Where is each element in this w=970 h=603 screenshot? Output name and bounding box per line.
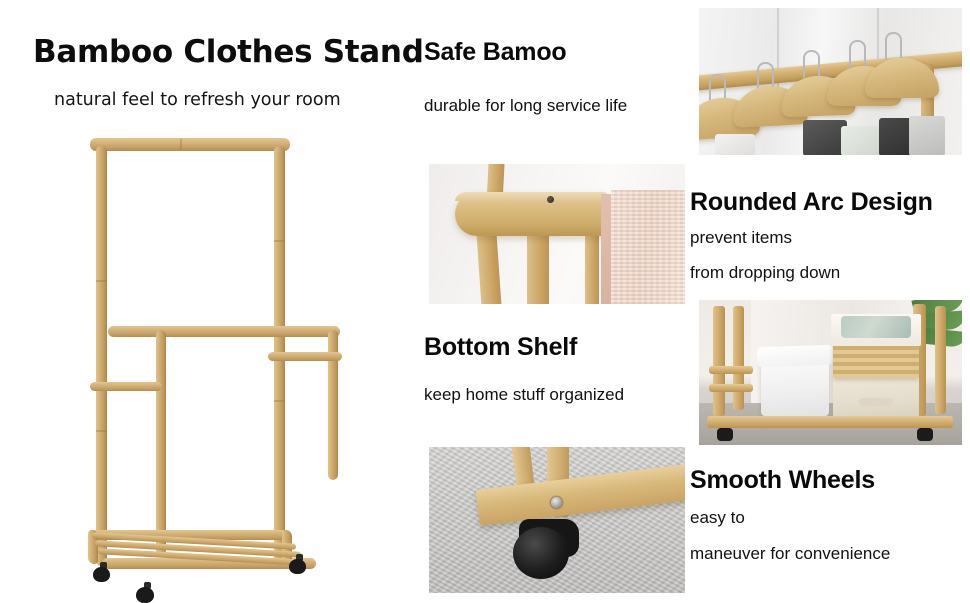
light-garment (715, 134, 755, 155)
rack-inner-left-post (156, 330, 166, 555)
folded-cloth-in-basket (841, 316, 911, 338)
rack-node-mark (274, 240, 285, 242)
bamboo-left-inner-post (733, 306, 744, 410)
feature-subtitle-smooth-wheels-line-2: maneuver for convenience (690, 544, 890, 564)
feature-subtitle-rounded-arc-line-1: prevent items (690, 228, 792, 248)
bamboo-clothes-rack-illustration (60, 130, 360, 590)
bamboo-center-post (527, 230, 549, 304)
caster-wheel-left (717, 428, 733, 441)
feature-title-bottom-shelf: Bottom Shelf (424, 333, 577, 362)
rack-node-mark (96, 430, 107, 432)
light-garment (841, 126, 881, 155)
caster-wheel-right (917, 428, 933, 441)
arc-arm-highlight (455, 192, 607, 201)
bamboo-right-inner-post (935, 306, 946, 414)
rack-left-brace (90, 382, 162, 391)
bamboo-arc-arm-with-towel-photo (429, 164, 685, 304)
rack-node-mark (96, 280, 107, 282)
hangers-on-bamboo-rail-photo (699, 8, 962, 155)
wicker-basket (833, 344, 919, 378)
bin-handle (859, 398, 893, 406)
hanger-hook (803, 50, 820, 78)
bamboo-left-brace (709, 366, 753, 374)
caster-wheel-on-carpet-photo (429, 447, 685, 593)
gray-garment (909, 116, 945, 155)
caster-wheel-front-left (136, 587, 154, 603)
rack-node-mark (274, 400, 285, 402)
feature-title-rounded-arc-design: Rounded Arc Design (690, 188, 933, 217)
bamboo-right-post (585, 226, 599, 304)
feature-title-safe-bamboo: Safe Bamoo (424, 38, 566, 67)
bamboo-left-brace (709, 384, 753, 392)
feature-subtitle-rounded-arc-line-2: from dropping down (690, 263, 840, 283)
feature-subtitle-safe-bamboo: durable for long service life (424, 96, 627, 116)
white-box-lid (757, 345, 834, 368)
arm-screw-hole (547, 196, 554, 203)
rack-left-post (96, 146, 107, 566)
bamboo-shelf-board (707, 416, 953, 428)
caster-wheel-rear-left (93, 567, 110, 582)
metal-bolt (551, 497, 562, 508)
caster-wheel-rear-right (289, 559, 306, 574)
page-title: Bamboo Clothes Stand (33, 34, 424, 70)
feature-subtitle-smooth-wheels-line-1: easy to (690, 508, 745, 528)
feature-subtitle-bottom-shelf: keep home stuff organized (424, 385, 624, 405)
pink-towel (611, 190, 685, 304)
bamboo-left-post (713, 306, 725, 416)
page-subtitle: natural feel to refresh your room (54, 90, 341, 110)
bottom-shelf-with-storage-boxes-photo (699, 300, 962, 445)
hanger-hook (849, 40, 866, 68)
hanger-hook (885, 32, 902, 60)
rack-middle-rail (108, 326, 340, 337)
feature-title-smooth-wheels: Smooth Wheels (690, 466, 875, 495)
rack-top-rail (90, 138, 290, 151)
rack-node-mark (180, 139, 182, 150)
caster-wheel (513, 527, 569, 579)
rack-right-brace (268, 352, 342, 361)
